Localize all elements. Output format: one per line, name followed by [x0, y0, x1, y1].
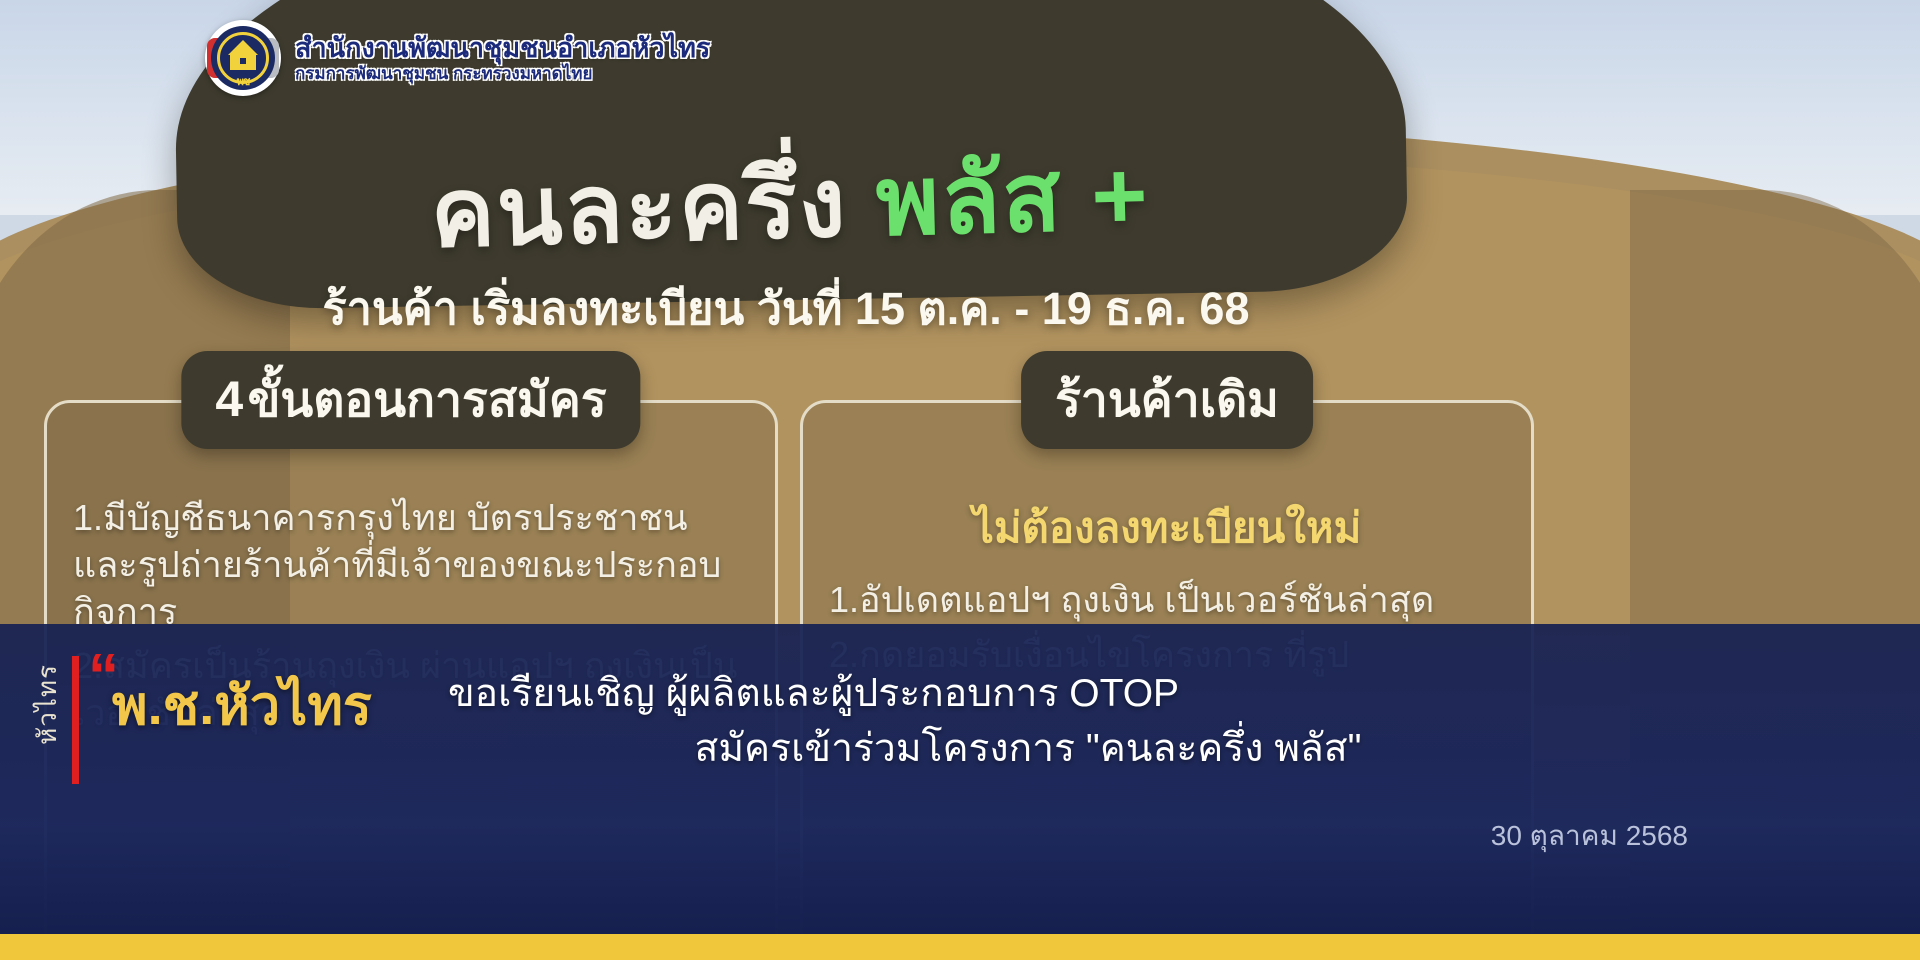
- red-divider-rule: [72, 656, 79, 784]
- lower-third-overlay: หัวไทร “ พ.ช.หัวไทร ขอเรียนเชิญ ผู้ผลิตแ…: [0, 624, 1920, 960]
- existing-merchant-lead: ไม่ต้องลงทะเบียนใหม่: [829, 495, 1505, 561]
- announcement-line-2: สมัครเข้าร่วมโครงการ "คนละครึ่ง พลัส": [448, 721, 1608, 776]
- campaign-title-accent: พลัส: [875, 144, 1064, 256]
- agency-brand-text: สำนักงานพัฒนาชุมชนอำเภอหัวไทร กรมการพัฒน…: [295, 33, 710, 82]
- gold-accent-strip: [0, 934, 1920, 960]
- list-item: 1.อัปเดตแอปฯ ถุงเงิน เป็นเวอร์ชันล่าสุด: [829, 577, 1505, 624]
- plus-sign-icon: +: [1090, 142, 1151, 250]
- card-existing-merchant-title: ร้านค้าเดิม: [1055, 374, 1279, 427]
- vertical-district-label: หัวไทร: [26, 664, 67, 745]
- registration-dateline: ร้านค้า เริ่มลงทะเบียน วันที่ 15 ต.ค. - …: [0, 272, 1572, 344]
- announcement-message: ขอเรียนเชิญ ผู้ผลิตและผู้ประกอบการ OTOP …: [448, 666, 1608, 777]
- campaign-title-main: คนละครึ่ง: [429, 150, 849, 268]
- card-existing-merchant-chip: ร้านค้าเดิม: [1021, 351, 1313, 449]
- seal-pavilion-door-icon: [240, 58, 246, 64]
- seal-pavilion-roof-icon: [228, 40, 258, 55]
- card-application-steps-title: ขั้นตอนการสมัคร: [248, 374, 607, 427]
- announcement-line-1: ขอเรียนเชิญ ผู้ผลิตและผู้ประกอบการ OTOP: [448, 672, 1179, 715]
- list-item: 1.มีบัญชีธนาคารกรุงไทย บัตรประชาชน และรู…: [73, 495, 749, 635]
- screenshot-stage: คนละครึ่ง พลัส + พช สำนักงานพัฒนาชุมชนอำ…: [0, 0, 1920, 960]
- seal-label: พช: [237, 72, 250, 90]
- agency-department-name: กรมการพัฒนาชุมชน กระทรวงมหาดไทย: [295, 64, 710, 83]
- government-seal-icon: พช: [205, 20, 281, 96]
- card-application-steps-chip: 4 ขั้นตอนการสมัคร: [181, 351, 640, 449]
- station-name: พ.ช.หัวไทร: [112, 662, 372, 748]
- agency-office-name: สำนักงานพัฒนาชุมชนอำเภอหัวไทร: [295, 33, 710, 63]
- card-step-count: 4: [215, 371, 243, 427]
- broadcast-date: 30 ตุลาคม 2568: [1491, 814, 1688, 858]
- agency-brand: พช สำนักงานพัฒนาชุมชนอำเภอหัวไทร กรมการพ…: [205, 20, 710, 96]
